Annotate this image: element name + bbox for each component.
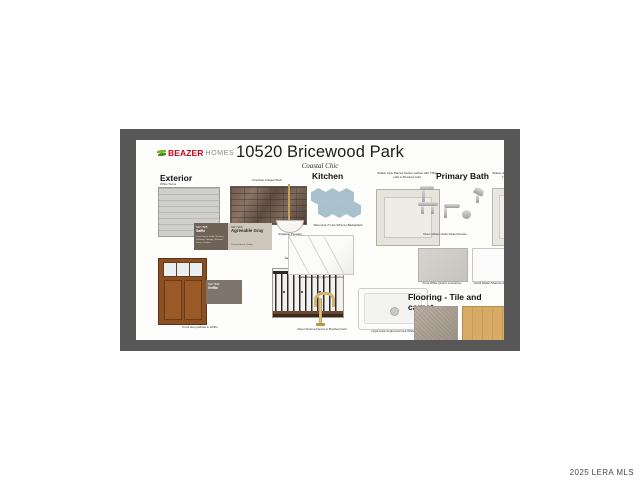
board-title: 10520 Bricewood Park [136, 143, 504, 162]
kitchen-faucet-image [311, 290, 331, 326]
bath-faucets-image [418, 184, 500, 232]
door-panel-left [164, 280, 182, 320]
swatch-calacatta-delphi-quartz [288, 235, 354, 275]
bath-cabinet-door-image [492, 188, 504, 246]
door-panel-right [184, 280, 202, 320]
paint-chip-griffin-name: Griffin [208, 286, 218, 290]
caption-front-door: Front door painted in Griffin [158, 326, 242, 330]
paint-chip-saffle-name: Saffle [196, 229, 205, 233]
paint-chip-agreeable-gray: SW 7029 Agreeable Gray Cement Board, Sid… [228, 223, 272, 250]
swatch-frost-white-quartz [418, 248, 468, 282]
swatch-shower-floor-tile [472, 248, 504, 282]
paint-chip-agreeable-detail: Cement Board, Siding [231, 244, 252, 246]
door-glass-panel [163, 262, 203, 277]
faucet-body [319, 298, 322, 324]
exterior-subheading: White Stone [160, 182, 176, 186]
paint-chip-agreeable-name: Agreeable Gray [231, 229, 263, 234]
caption-kitchen-cabinet: Shaker style Barnett Harbor cabinet with… [374, 172, 440, 179]
railing-base [273, 314, 343, 317]
faucet-base [316, 323, 325, 326]
caption-kitchen-faucet: Moen Sinema Faucet in Brushed Gold [296, 328, 348, 332]
bath-cabinet-inner-panel [499, 195, 504, 239]
section-heading-primary-bath: Primary Bath [436, 171, 489, 181]
section-heading-kitchen: Kitchen [312, 171, 343, 181]
board-subtitle: Coastal Chic [136, 162, 504, 170]
paint-chip-saffle-detail: Trim, Fascia, Soffit, Shutters, Columns,… [196, 236, 226, 244]
sink-drain [390, 307, 399, 316]
caption-bath-cabinet: Shaker style Barnett Harbor cabinet with… [492, 172, 504, 179]
caption-bath-faucets: Moen Gibson Satin Nickel faucets [414, 233, 476, 237]
front-door-image [158, 258, 207, 325]
caption-kitchen-countertop: Calacatta Delphi Quartz countertop [288, 276, 354, 280]
swatch-luxury-vinyl-plank [462, 306, 504, 340]
listing-photo-frame: BEAZER HOMES 10520 Bricewood Park Coasta… [120, 129, 520, 351]
railing-knob [301, 291, 303, 293]
hex-backsplash-tiles [311, 188, 365, 222]
design-selection-board: BEAZER HOMES 10520 Bricewood Park Coasta… [136, 140, 504, 340]
caption-bath-countertop: Frost White Quartz countertop [414, 282, 470, 286]
mls-watermark: 2025 LERA MLS [570, 468, 634, 477]
swatch-carpet [414, 306, 458, 340]
caption-backsplash: Mennonia 4" Hex Whimsy Backsplash [308, 224, 368, 228]
caption-bath-tile: 12x24 Matter Sharrow Andressite Shower a… [472, 282, 504, 289]
faucet-arc [314, 292, 335, 307]
pendant-rod [288, 184, 290, 222]
caption-american-antique-brick: American Antique Brick [228, 179, 306, 183]
railing-knob [283, 291, 285, 293]
paint-chip-griffin: SW 7636 Griffin [206, 280, 242, 304]
paint-chip-saffle: SW 7505 Saffle Trim, Fascia, Soffit, Shu… [194, 223, 228, 250]
